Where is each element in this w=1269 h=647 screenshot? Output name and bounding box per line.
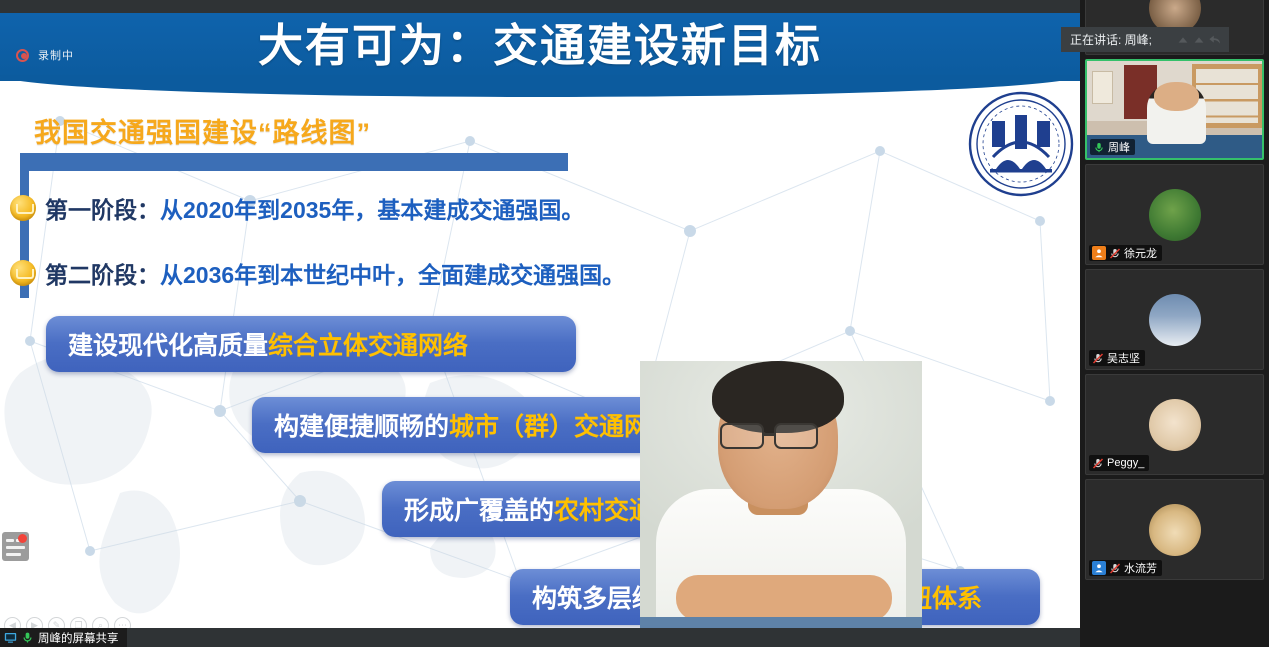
return-arrow-icon[interactable] <box>1208 33 1223 47</box>
phase-2-body: 从2036年到本世纪中叶，全面建成交通强国。 <box>160 262 625 288</box>
goal-box-2-highlight: 城市（群）交通网 <box>449 407 649 443</box>
speaker-glasses-bridge <box>764 433 776 436</box>
widget-line-4 <box>6 553 21 556</box>
goal-box-1: 建设现代化高质量综合立体交通网络 <box>46 316 576 372</box>
participant-rail[interactable]: 交研2022顾志伟 周峰 <box>1080 0 1269 647</box>
recording-indicator: 录制中 <box>16 47 74 63</box>
speaker-video-overlay[interactable] <box>640 361 922 628</box>
goal-box-3-plain: 形成广覆盖的 <box>404 491 554 527</box>
meeting-window: 大有可为：交通建设新目标 录制中 我国交通强国建设“路线图” <box>0 0 1269 647</box>
speaker-glasses-left <box>720 423 764 449</box>
widget-alert-badge <box>18 534 27 543</box>
speaker-glasses-right <box>774 423 818 449</box>
participant-name: 周峰 <box>1108 139 1130 155</box>
widget-line-1 <box>6 539 14 542</box>
goal-box-2-plain: 构建便捷顺畅的 <box>274 407 449 443</box>
goal-box-1-plain: 建设现代化高质量 <box>68 326 268 362</box>
chevron-collapse-icon[interactable] <box>1176 33 1190 47</box>
phase-item-2: 第二阶段：从2036年到本世纪中叶，全面建成交通强国。 <box>10 256 625 290</box>
phase-1-body: 从2020年到2035年，基本建成交通强国。 <box>160 197 584 223</box>
phase-1-lead: 第一阶段： <box>45 197 160 223</box>
magnifier-icon[interactable]: ⌕ <box>92 617 109 628</box>
host-badge-icon <box>1092 246 1106 260</box>
cohost-badge-icon <box>1092 561 1106 575</box>
screen-share-status-bar: 周峰的屏幕共享 <box>0 628 127 647</box>
recording-label: 录制中 <box>38 47 74 63</box>
avatar <box>1149 504 1201 556</box>
university-emblem-icon <box>968 91 1074 197</box>
microphone-icon <box>1093 141 1105 154</box>
presentation-slide: 大有可为：交通建设新目标 录制中 我国交通强国建设“路线图” <box>0 13 1080 628</box>
participant-nametag: 周峰 <box>1090 139 1135 155</box>
participant-nametag: 水流芳 <box>1089 560 1162 576</box>
participant-name: 徐元龙 <box>1124 245 1157 261</box>
notes-widget[interactable] <box>2 532 29 561</box>
participant-name: Peggy_ <box>1107 457 1144 469</box>
video-person-face <box>1154 82 1200 111</box>
screen-share-label: 周峰的屏幕共享 <box>38 630 119 646</box>
participant-tile[interactable]: 吴志坚 <box>1085 269 1264 370</box>
chevron-collapse-icon[interactable] <box>1192 33 1206 47</box>
participant-tile[interactable]: 徐元龙 <box>1085 164 1264 265</box>
participant-tile[interactable]: 水流芳 <box>1085 479 1264 580</box>
avatar <box>1149 294 1201 346</box>
speaking-banner: 正在讲话: 周峰; <box>1061 27 1229 52</box>
microphone-icon <box>21 631 34 644</box>
goal-box-1-highlight: 综合立体交通网络 <box>268 326 468 362</box>
screen-share-icon <box>4 631 17 644</box>
decorative-horizontal-bar <box>20 153 568 171</box>
microphone-muted-icon <box>1109 562 1121 575</box>
participant-nametag: Peggy_ <box>1089 455 1149 471</box>
avatar <box>1149 399 1201 451</box>
participant-tile-active-speaker[interactable]: 周峰 <box>1085 59 1264 160</box>
speaking-banner-controls[interactable] <box>1176 33 1223 47</box>
microphone-muted-icon <box>1109 247 1121 260</box>
slide-title: 大有可为：交通建设新目标 <box>0 20 1080 72</box>
microphone-muted-icon <box>1092 352 1104 365</box>
participant-name: 吴志坚 <box>1107 350 1140 366</box>
participant-name: 水流芳 <box>1124 560 1157 576</box>
layers-icon[interactable]: ❐ <box>70 617 87 628</box>
phase-item-1: 第一阶段：从2020年到2035年，基本建成交通强国。 <box>10 191 584 225</box>
record-dot-icon <box>16 49 29 62</box>
annotation-toolbar[interactable]: ◀ ▶ ✎ ❐ ⌕ ⋯ <box>4 617 131 628</box>
microphone-muted-icon <box>1092 457 1104 470</box>
video-wall-picture <box>1092 71 1113 104</box>
phase-2-lead: 第二阶段： <box>45 262 160 288</box>
speaker-desk <box>640 617 922 628</box>
more-options-icon[interactable]: ⋯ <box>114 617 131 628</box>
crown-coin-icon <box>10 260 36 286</box>
participant-nametag: 吴志坚 <box>1089 350 1145 366</box>
play-arrow-icon[interactable]: ▶ <box>26 617 43 628</box>
slide-subtitle: 我国交通强国建设“路线图” <box>34 111 371 150</box>
participant-tile[interactable]: Peggy_ <box>1085 374 1264 475</box>
crown-coin-icon <box>10 195 36 221</box>
pencil-icon[interactable]: ✎ <box>48 617 65 628</box>
speaking-label: 正在讲话: 周峰; <box>1070 31 1152 48</box>
back-arrow-icon[interactable]: ◀ <box>4 617 21 628</box>
screen-top-strip <box>0 0 1080 13</box>
widget-line-3 <box>6 546 25 549</box>
participant-nametag: 徐元龙 <box>1089 245 1162 261</box>
shared-screen-area[interactable]: 大有可为：交通建设新目标 录制中 我国交通强国建设“路线图” <box>0 0 1080 647</box>
speaker-arm <box>676 575 892 621</box>
avatar <box>1149 189 1201 241</box>
